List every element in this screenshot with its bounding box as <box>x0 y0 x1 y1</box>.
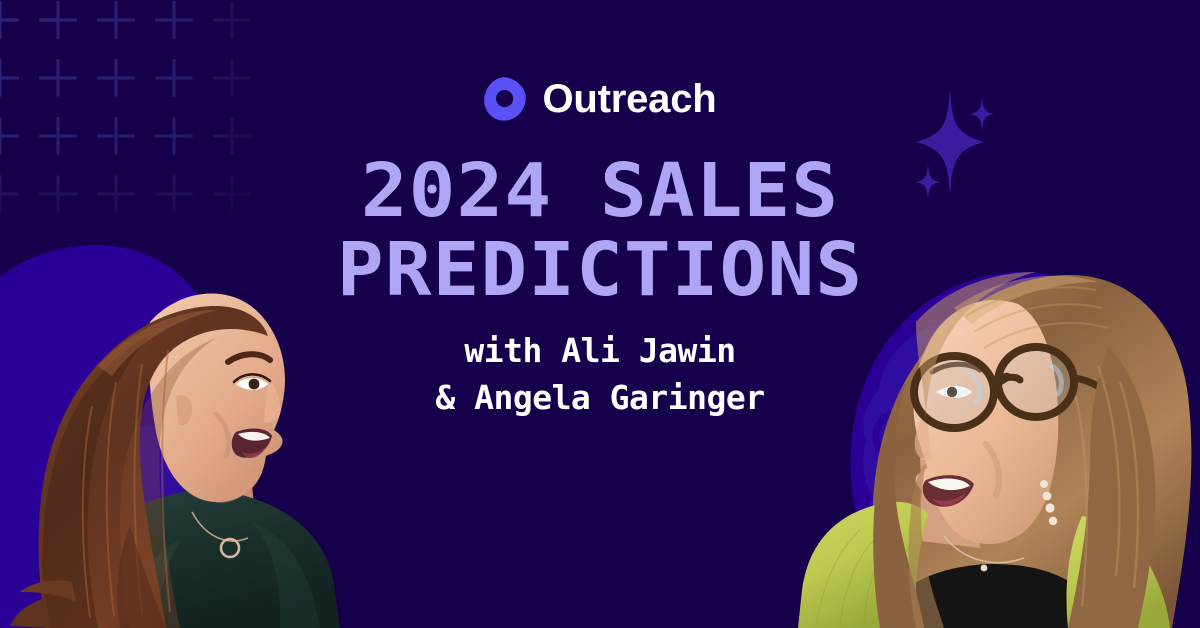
brand-logo-lockup: Outreach <box>0 76 1200 122</box>
page-title: 2024 SALES PREDICTIONS <box>0 152 1200 310</box>
promo-banner: Outreach 2024 SALES PREDICTIONS with Ali… <box>0 0 1200 628</box>
headline-line-2: PREDICTIONS <box>0 231 1200 310</box>
presenter-credits: with Ali Jawin & Angela Garinger <box>0 328 1200 422</box>
subtitle-line-2: & Angela Garinger <box>0 375 1200 422</box>
outreach-teardrop-logo-icon <box>483 76 527 122</box>
headline-line-1: 2024 SALES <box>0 152 1200 231</box>
subtitle-line-1: with Ali Jawin <box>0 328 1200 375</box>
brand-wordmark: Outreach <box>542 79 716 119</box>
